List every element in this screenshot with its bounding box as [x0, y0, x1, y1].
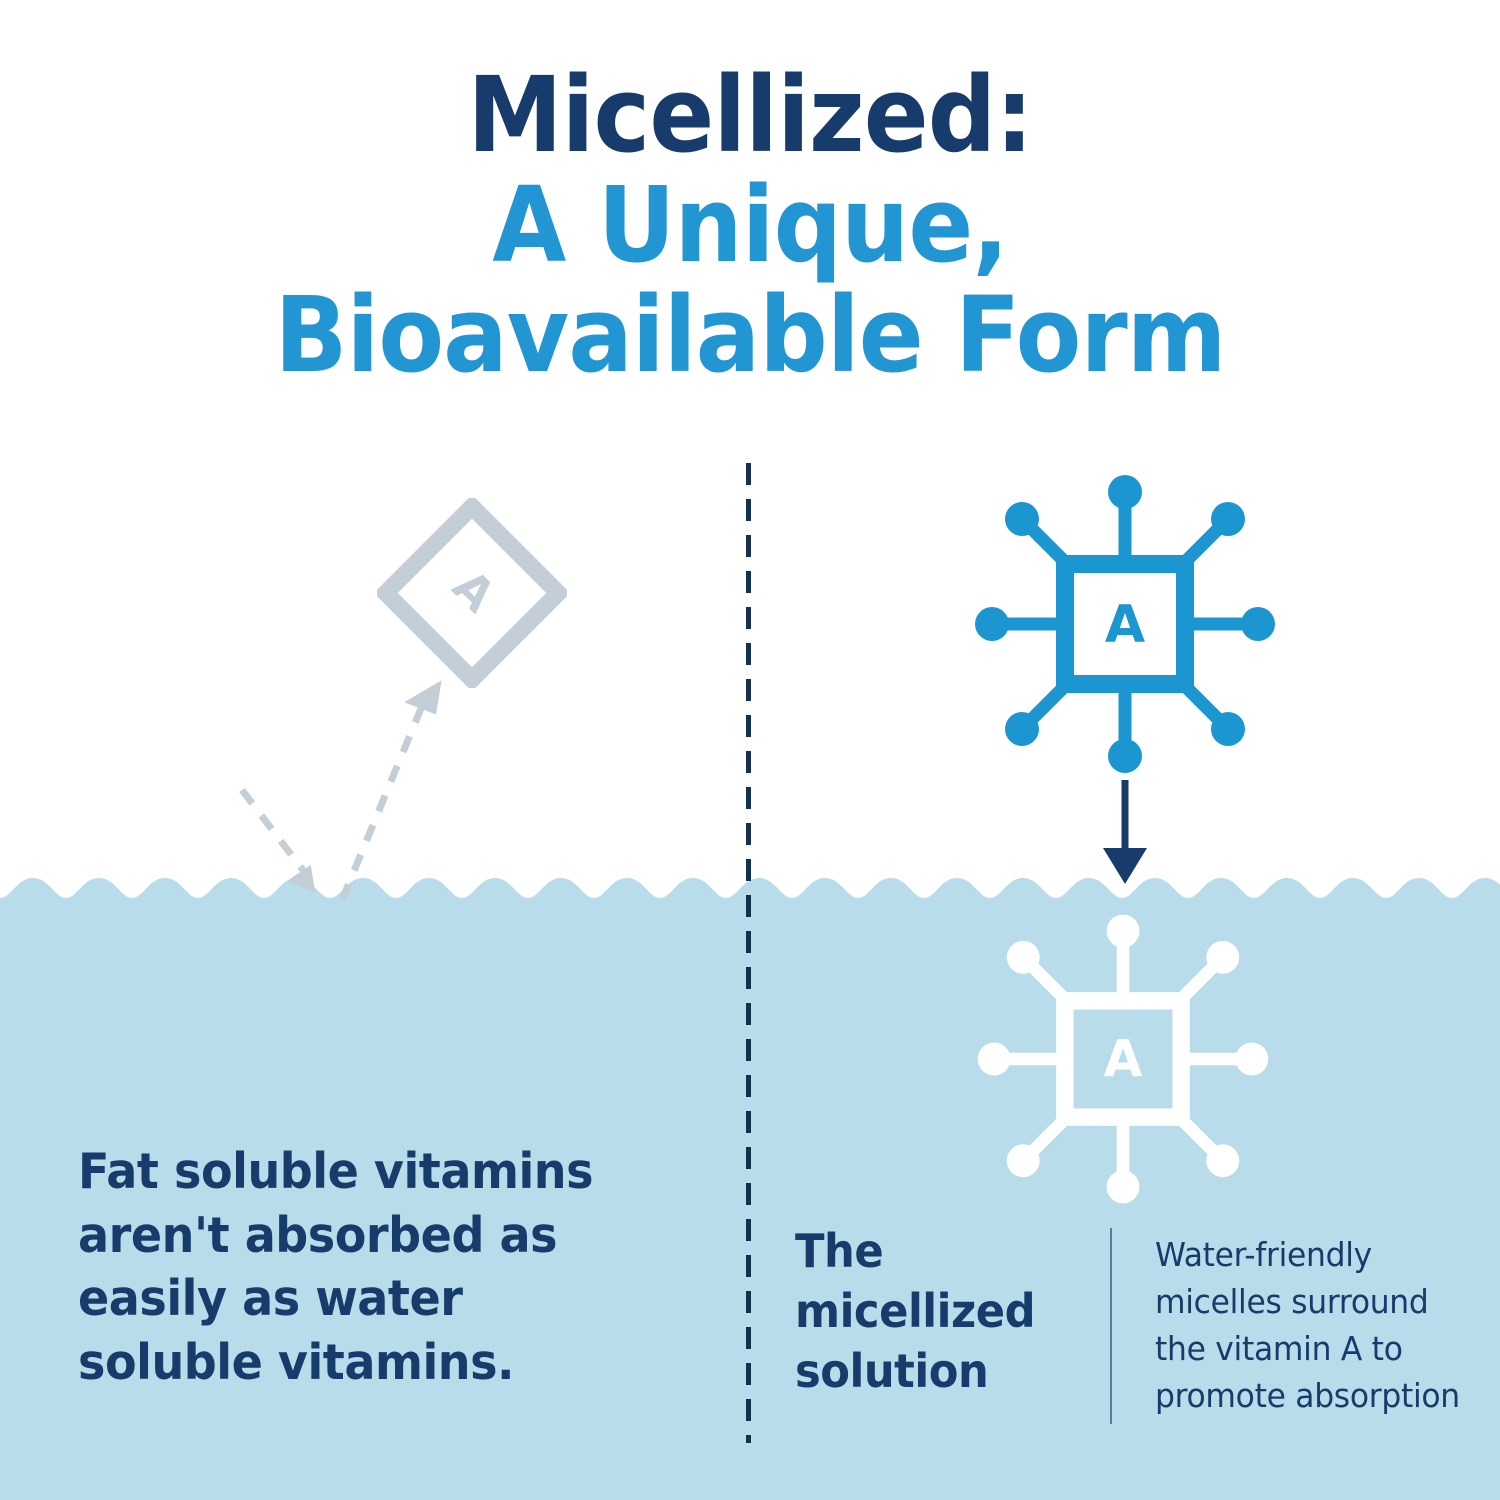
down-arrow-icon [1085, 778, 1165, 886]
svg-text:A: A [1104, 1029, 1143, 1088]
title-line-3: Bioavailable Form [60, 282, 1440, 388]
right-panel-heading: The micellized solution [795, 1222, 1068, 1401]
svg-text:A: A [442, 559, 506, 623]
micelle-vitamin-a-icon-above-water: A [965, 474, 1285, 774]
vertical-rule-divider [1110, 1228, 1112, 1424]
svg-text:A: A [1105, 595, 1145, 655]
left-panel-caption: Fat soluble vitamins aren't absorbed as … [78, 1140, 642, 1395]
page-title: Micellized: A Unique, Bioavailable Form [0, 62, 1500, 388]
vertical-dashed-divider [746, 463, 751, 1443]
right-panel-body-text: Water-friendly micelles surround the vit… [1155, 1232, 1469, 1419]
infographic-canvas: Micellized: A Unique, Bioavailable Form … [0, 0, 1500, 1500]
bounce-off-water-arrow-icon [230, 650, 530, 910]
title-line-1: Micellized: [60, 62, 1440, 168]
title-line-2: A Unique, [60, 172, 1440, 278]
micelle-vitamin-a-icon-below-water: A [968, 913, 1278, 1205]
